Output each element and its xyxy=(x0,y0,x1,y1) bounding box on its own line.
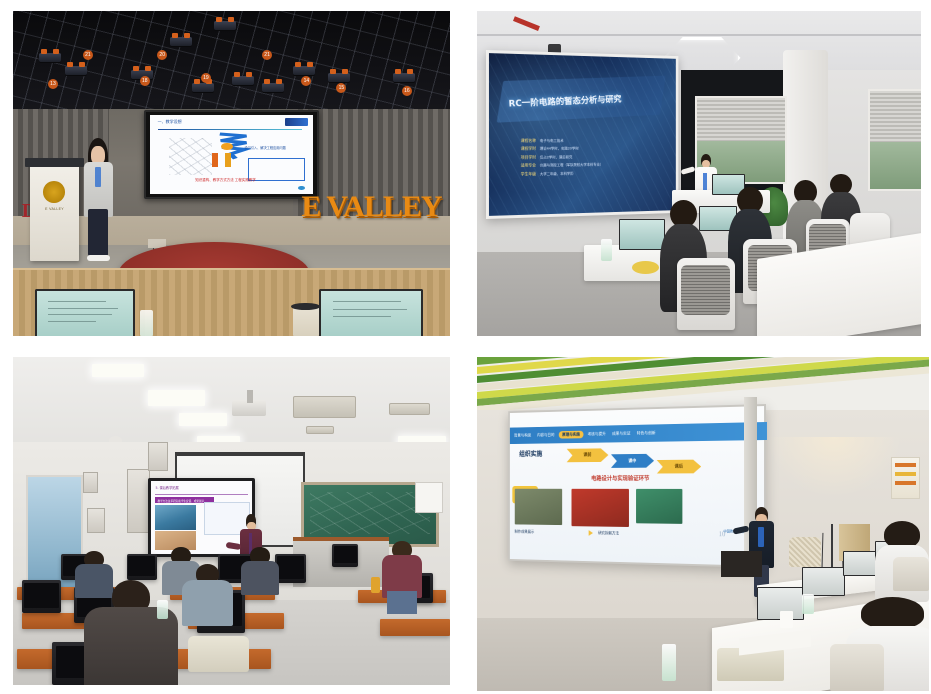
monitor-screen xyxy=(24,583,59,608)
monitor-line xyxy=(48,314,111,315)
caption-play-icon xyxy=(589,530,593,536)
window-blind xyxy=(870,91,921,142)
juice-bottle xyxy=(371,577,380,593)
audience-laptop-1[interactable] xyxy=(619,219,665,250)
water-bottle xyxy=(140,310,153,336)
wall-poster xyxy=(891,457,920,499)
poster-bar xyxy=(895,463,916,467)
stage-light xyxy=(328,73,350,82)
monitor-screen xyxy=(334,546,357,563)
legs xyxy=(387,591,418,614)
stage-light xyxy=(192,83,214,92)
slide-caption-results: 制作成果展示 xyxy=(515,528,535,534)
row-value: 电子与电工技术 xyxy=(540,138,564,143)
student-5-foreground xyxy=(92,580,171,685)
slide-tab-results[interactable]: 成果与实证 xyxy=(610,430,632,436)
light-number-badge: 15 xyxy=(336,83,346,93)
chair-1 xyxy=(830,644,884,691)
slide-photo-group xyxy=(155,505,195,530)
monitor-line xyxy=(48,321,96,322)
water-bottle xyxy=(157,600,168,620)
ceiling-light-panel xyxy=(92,364,144,377)
student-3 xyxy=(245,547,276,593)
ceiling-pipe xyxy=(477,34,921,36)
monitor-line xyxy=(333,316,391,317)
chair-2 xyxy=(893,557,929,590)
presenter-pants xyxy=(88,209,108,256)
slide-info-rows: 课程名称 电子与电工技术 课程学时 理论44学时，实践20学时 项目学时 仅占2… xyxy=(521,137,662,179)
chalk-writing xyxy=(310,492,431,535)
photo-top-right[interactable]: RC一阶电路的暂态分析与研究 课程名称 电子与电工技术 课程学时 理论44学时，… xyxy=(477,11,921,336)
venue-sign: E VALLEY xyxy=(301,190,441,224)
presenter-lanyard xyxy=(758,527,764,547)
slide-divider xyxy=(158,129,302,130)
foreground-monitor-right[interactable] xyxy=(319,289,424,337)
lab-desk-side-2 xyxy=(380,619,450,635)
coffee-cup xyxy=(293,307,319,336)
podium-logo-icon xyxy=(43,181,65,202)
stage-chevron-after: 课后 xyxy=(657,459,702,473)
slide-tab-content[interactable]: 内容与目的 xyxy=(535,432,556,438)
slide-info-row: 项目学时 仅占2学时，课后研究 xyxy=(521,153,662,160)
slide-info-row: 课程学时 理论44学时，实践20学时 xyxy=(521,145,662,152)
window-blind xyxy=(697,98,786,142)
ceiling-light-panel xyxy=(148,390,205,406)
laptop-2[interactable] xyxy=(802,567,845,596)
row-value: 仅占2学时，课后研究 xyxy=(540,155,572,160)
slide-tab-background[interactable]: 背景与构思 xyxy=(512,432,533,438)
slide-tab-assessment[interactable]: 考核与提升 xyxy=(586,431,608,437)
lab-monitor[interactable] xyxy=(275,554,306,584)
row-value: 仪器与测控工程（军队院校大学本科专业） xyxy=(540,163,603,169)
projection-screen[interactable]: RC一阶电路的暂态分析与研究 课程名称 电子与电工技术 课程学时 理论44学时，… xyxy=(486,50,679,219)
ceiling-air-vent xyxy=(389,403,430,415)
seminar-room-scene: RC一阶电路的暂态分析与研究 课程名称 电子与电工技术 课程学时 理论44学时，… xyxy=(477,11,921,336)
stage-light xyxy=(232,76,254,85)
monitor-line xyxy=(48,301,106,302)
coffee-cup xyxy=(780,611,794,628)
podium-top xyxy=(25,158,85,167)
office-chair-1 xyxy=(677,258,735,330)
lab-monitor[interactable] xyxy=(332,544,358,567)
foreground-monitor-left[interactable] xyxy=(35,289,135,337)
presenter-shoes xyxy=(87,255,110,261)
slide-annotation: 设问引入、解决工程应用问题 xyxy=(244,145,285,150)
photo-top-left[interactable]: 21 20 21 13 18 19 14 15 16 一、教学设想 xyxy=(13,11,450,336)
monitor-screen xyxy=(128,556,155,576)
monitor-line xyxy=(333,301,401,302)
slide-info-row: 适用专业 仪器与测控工程（军队院校大学本科专业） xyxy=(521,161,662,168)
slide-thumbnail-classroom xyxy=(515,489,562,525)
stage-light xyxy=(39,53,61,62)
poster-bar xyxy=(895,481,916,485)
monitor-line xyxy=(48,308,117,309)
chair-mesh-back xyxy=(681,265,729,315)
ceiling-air-vent xyxy=(293,396,356,418)
slide-circuit-diagram xyxy=(248,158,306,181)
electrical-panel xyxy=(127,469,151,533)
slide-subtitle: 电路设计与实现验证环节 xyxy=(591,474,649,483)
light-number-badge: 21 xyxy=(83,50,93,60)
computer-lab-scene: 5. 课后教学拓展 教学方法改革研究和学生反馈、成果展示 xyxy=(13,357,450,685)
slide-divider xyxy=(155,494,247,495)
screen-content: 一、教学设想 设问引入、解决工程应用问题 知识重构、教学方式方法 工程实践教学 xyxy=(150,115,314,194)
body xyxy=(182,580,234,626)
row-key: 课程学时 xyxy=(521,146,536,152)
light-number-badge: 18 xyxy=(140,76,150,86)
auditorium-scene: 21 20 21 13 18 19 14 15 16 一、教学设想 xyxy=(13,11,450,336)
stage-light xyxy=(262,83,284,92)
presenter-lanyard xyxy=(703,173,707,192)
row-value: 大学二年级、本科学历 xyxy=(540,171,574,176)
window-right xyxy=(868,89,921,191)
student-6 xyxy=(384,541,419,613)
row-key: 适用专业 xyxy=(521,162,536,168)
slide-bar-orange xyxy=(212,153,219,167)
photo-collage: 21 20 21 13 18 19 14 15 16 一、教学设想 xyxy=(0,0,931,694)
row-value: 理论44学时，实践20学时 xyxy=(540,147,579,152)
cloth-bag xyxy=(188,636,249,672)
slide-section-title: 组织实施 xyxy=(519,449,542,458)
presentation-screen[interactable]: 一、教学设想 设问引入、解决工程应用问题 知识重构、教学方式方法 工程实践教学 xyxy=(144,110,318,199)
water-bottle-floor xyxy=(662,644,676,681)
monitor-screen xyxy=(277,556,304,578)
student-4 xyxy=(188,564,227,623)
photo-bottom-right[interactable]: 背景与构思 内容与目的 原理与实施 考核与提升 成果与实证 特色与创新 组织实施… xyxy=(477,357,929,691)
wall-cabinet-1 xyxy=(83,472,98,494)
stage-light xyxy=(214,21,236,30)
wall-poster xyxy=(415,482,443,514)
water-bottle-table xyxy=(802,594,813,614)
rattan-chair xyxy=(789,537,821,567)
light-number-badge: 19 xyxy=(201,73,211,83)
row-key: 学生年级 xyxy=(521,171,536,177)
podium-logo-text: E VALLEY xyxy=(30,207,78,211)
projector-mount xyxy=(247,390,254,403)
stage-light xyxy=(170,37,192,46)
photo-bottom-left[interactable]: 5. 课后教学拓展 教学方法改革研究和学生反馈、成果展示 xyxy=(13,357,450,685)
presenter xyxy=(83,138,114,262)
slide-title: 5. 课后教学拓展 xyxy=(155,485,178,490)
monitor-line xyxy=(333,309,407,310)
ceiling-light-panel xyxy=(179,413,227,426)
dark-console xyxy=(721,551,762,578)
slide-tab-innovation[interactable]: 特色与创新 xyxy=(635,430,657,436)
slide-caption-method: 研究拆解方法 xyxy=(591,530,619,536)
stage-chevron-during: 课中 xyxy=(611,454,654,468)
wall-wash-light xyxy=(766,437,902,497)
lecture-hall-scene: 背景与构思 内容与目的 原理与实施 考核与提升 成果与实证 特色与创新 组织实施… xyxy=(477,357,929,691)
podium: E VALLEY xyxy=(30,164,78,262)
slide-info-row: 课程名称 电子与电工技术 xyxy=(521,137,662,143)
slide-logo-badge xyxy=(285,118,308,126)
projection-screen[interactable]: 背景与构思 内容与目的 原理与实施 考核与提升 成果与实证 特色与创新 组织实施… xyxy=(508,404,766,568)
slide-sketch-left xyxy=(169,138,212,175)
slide-thumbnail-students xyxy=(636,489,683,523)
slide-red-note: 知识重构、教学方式方法 工程实践教学 xyxy=(195,178,255,183)
stage-light xyxy=(293,66,315,75)
head xyxy=(884,521,920,548)
slide-tab-principle-active[interactable]: 原理与实施 xyxy=(559,430,584,438)
electrical-panel-2 xyxy=(148,442,167,470)
wall-cabinet-2 xyxy=(87,508,104,533)
body xyxy=(241,561,279,595)
light-number-badge: 16 xyxy=(402,86,412,96)
slide-bar-amber xyxy=(225,153,232,167)
slide-title: 一、教学设想 xyxy=(158,119,182,125)
stage-light xyxy=(65,66,87,75)
slide-thumbnail-circuit-board xyxy=(572,489,629,527)
stage-chevron-before: 课前 xyxy=(567,448,609,462)
lab-monitor[interactable] xyxy=(127,554,158,580)
lab-monitor[interactable] xyxy=(22,580,61,613)
slide-nav-tabs[interactable]: 背景与构思 内容与目的 原理与实施 考核与提升 成果与实证 特色与创新 xyxy=(510,422,767,444)
ceiling-air-vent xyxy=(306,426,334,435)
row-key: 项目学时 xyxy=(521,154,536,160)
stage-light xyxy=(393,73,415,82)
poster-bar xyxy=(895,472,916,476)
presenter-badge xyxy=(95,167,101,187)
head xyxy=(861,597,924,629)
row-key: 课程名称 xyxy=(521,137,536,143)
water-bottle xyxy=(601,239,612,262)
slide-info-row: 学生年级 大学二年级、本科学历 xyxy=(521,169,662,177)
